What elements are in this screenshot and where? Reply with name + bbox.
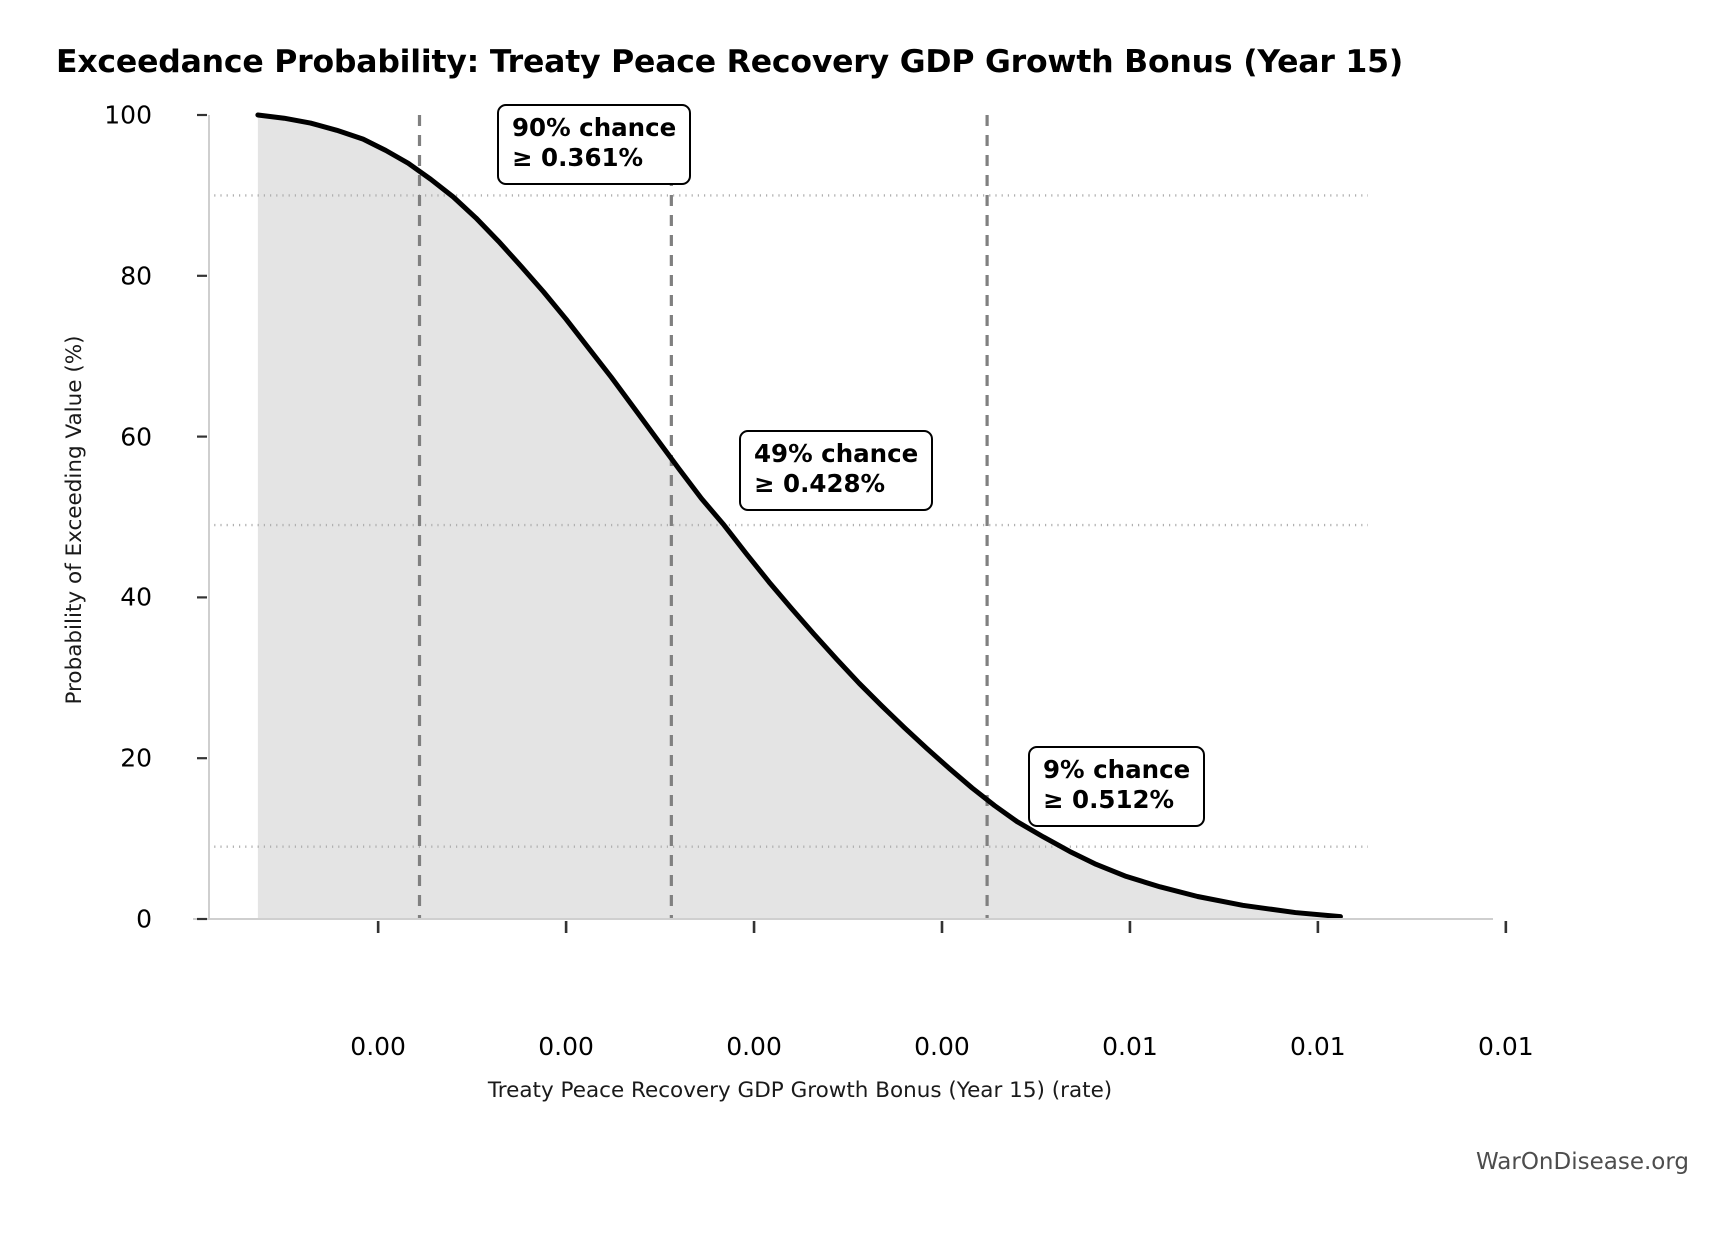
annotation-line-1: 49% chance [754, 439, 918, 469]
percentile-annotation-9: 9% chance ≥ 0.512% [1028, 746, 1205, 827]
x-axis-tick-label: 0.00 [674, 1032, 834, 1061]
x-axis-tick-labels: 0.000.000.000.000.010.010.01 [0, 1032, 1731, 1072]
annotation-line-2: ≥ 0.512% [1043, 785, 1190, 815]
x-axis-tick-label: 0.01 [1426, 1032, 1586, 1061]
exceedance-probability-chart-figure: Exceedance Probability: Treaty Peace Rec… [0, 0, 1731, 1234]
annotation-line-2: ≥ 0.361% [512, 143, 676, 173]
x-axis-tick-label: 0.01 [1238, 1032, 1398, 1061]
percentile-annotation-49: 49% chance ≥ 0.428% [739, 430, 933, 511]
annotation-line-1: 9% chance [1043, 755, 1190, 785]
x-axis-tick-label: 0.00 [862, 1032, 1022, 1061]
x-axis-title: Treaty Peace Recovery GDP Growth Bonus (… [200, 1078, 1400, 1103]
x-axis-tick-label: 0.00 [298, 1032, 458, 1061]
annotation-line-2: ≥ 0.428% [754, 469, 918, 499]
x-axis-tick-label: 0.01 [1050, 1032, 1210, 1061]
annotation-line-1: 90% chance [512, 113, 676, 143]
y-axis-title: Probability of Exceeding Value (%) [62, 90, 87, 950]
percentile-annotation-90: 90% chance ≥ 0.361% [497, 104, 691, 185]
watermark: WarOnDisease.org [1476, 1149, 1689, 1175]
x-axis-tick-label: 0.00 [486, 1032, 646, 1061]
